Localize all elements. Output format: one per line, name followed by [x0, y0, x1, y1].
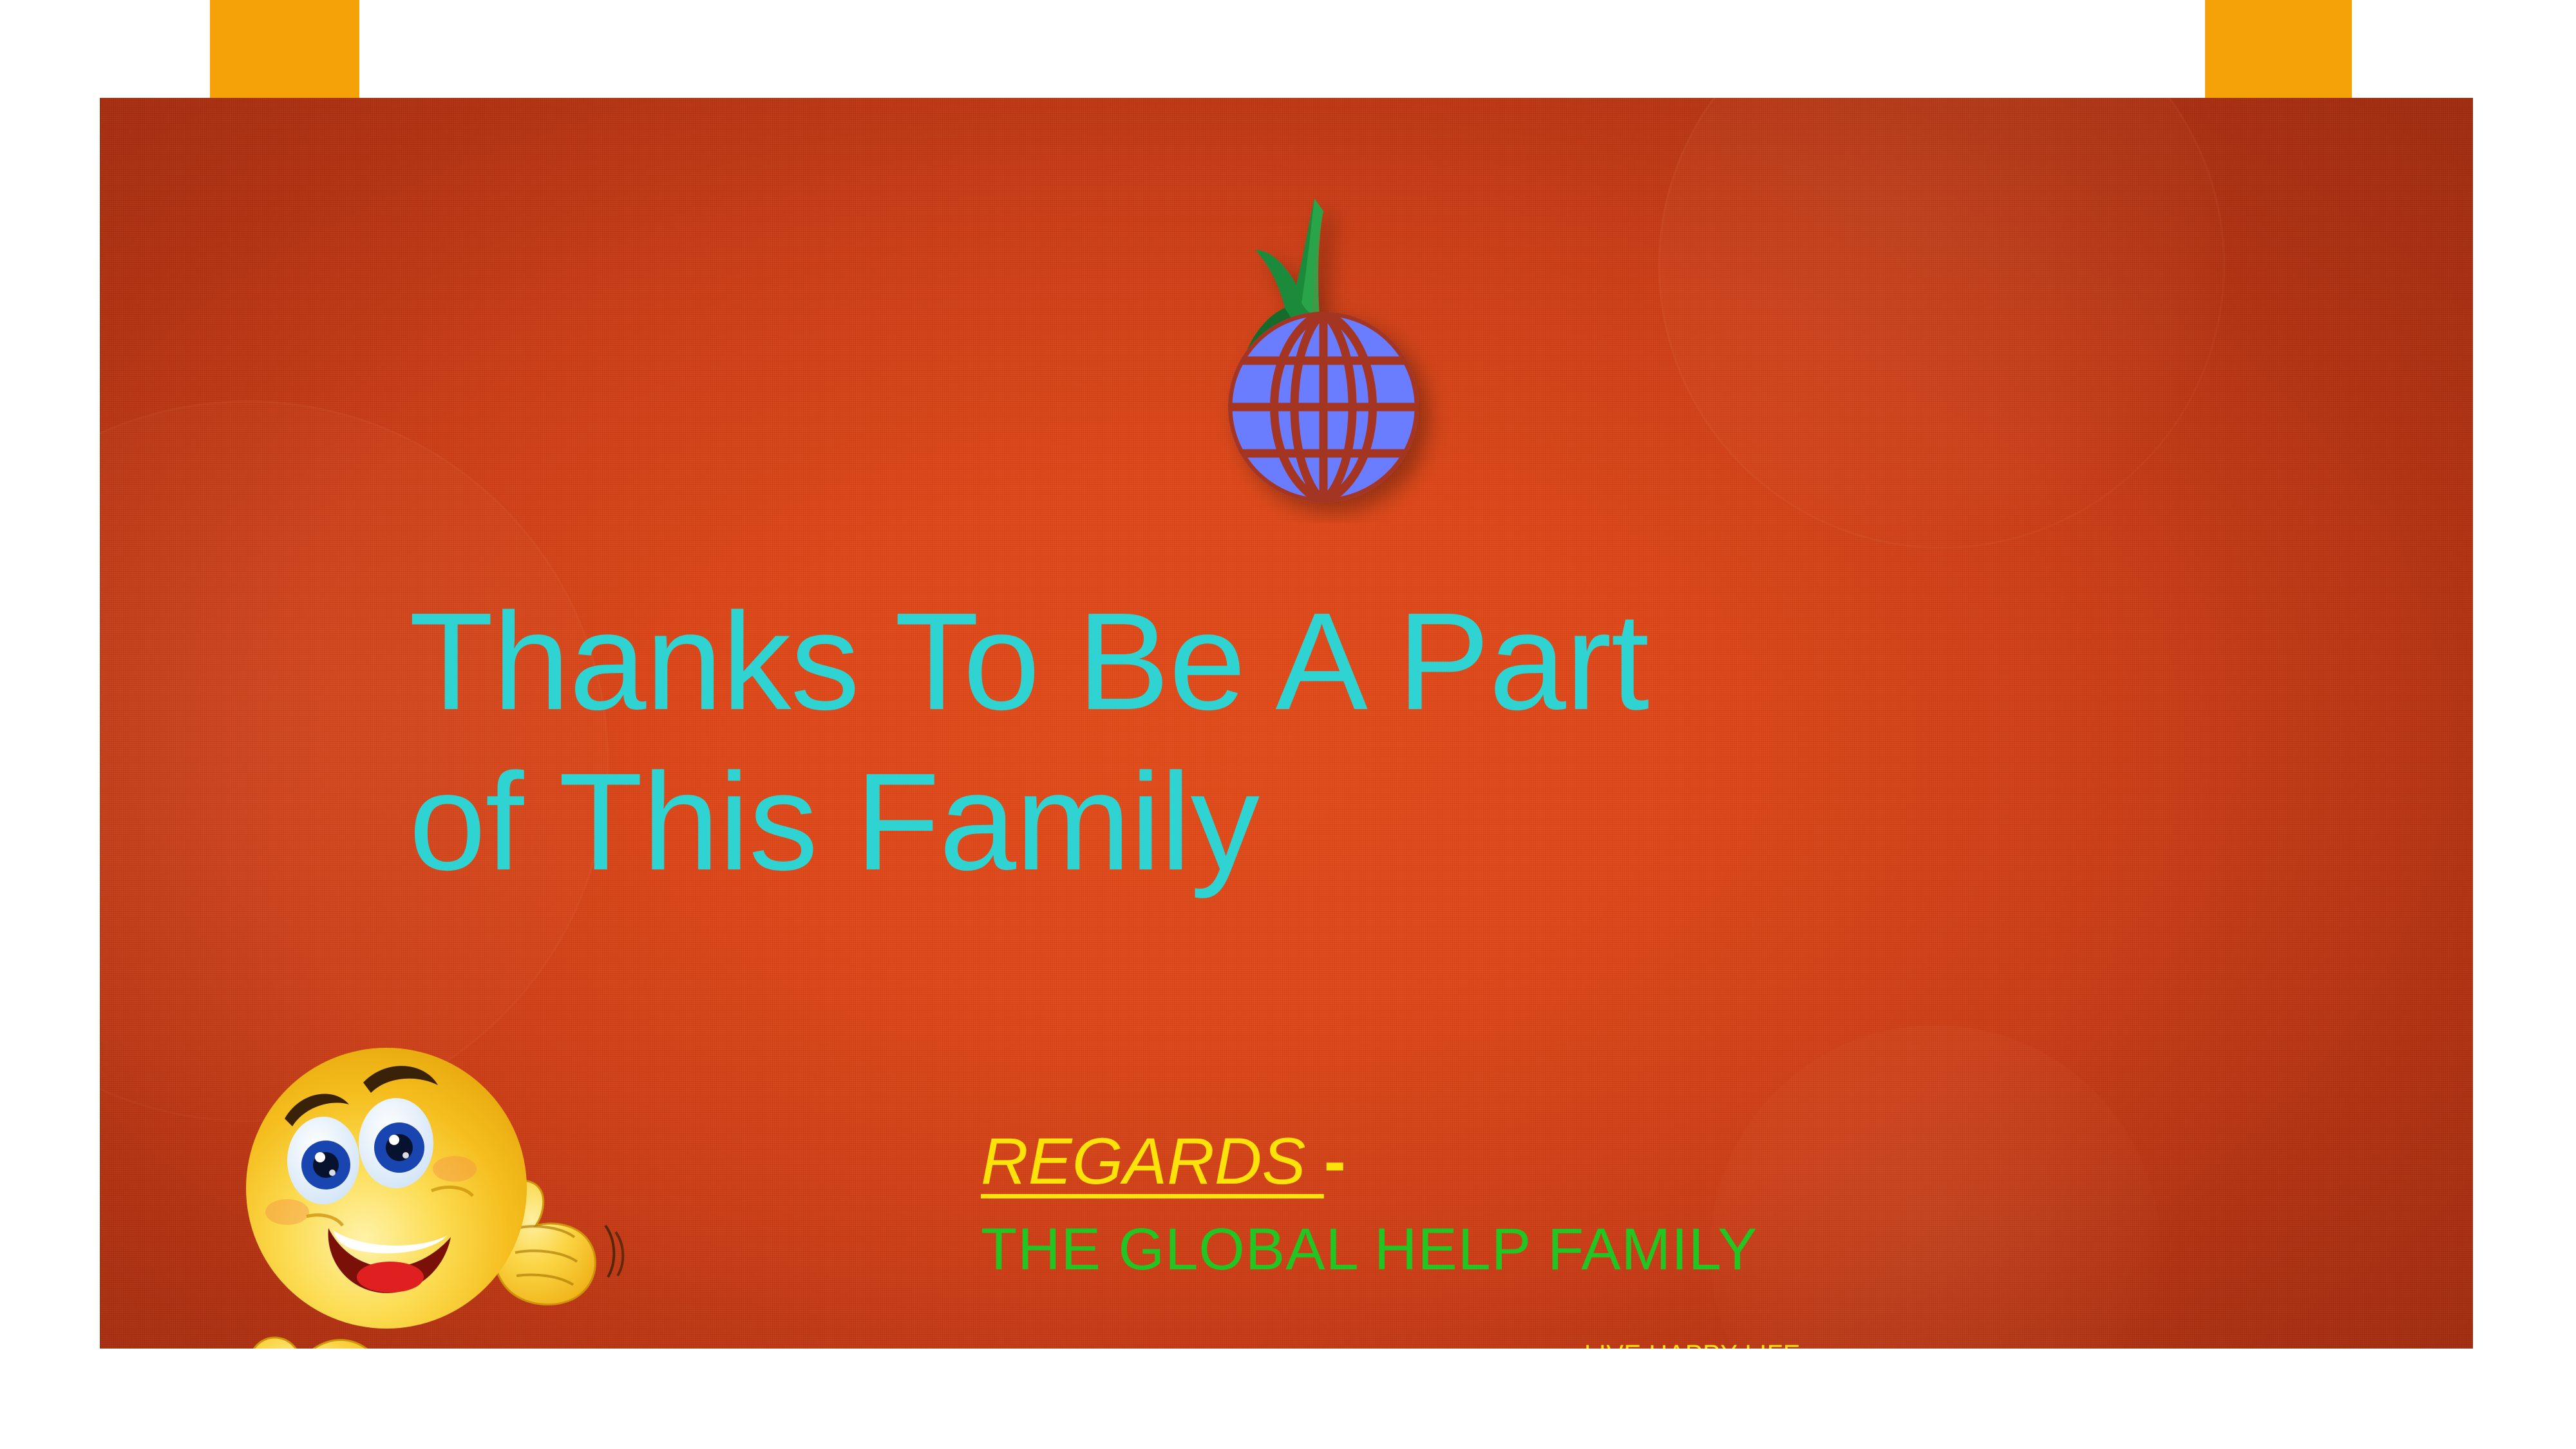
slide-title: Thanks To Be A Part of This Family — [409, 581, 2212, 902]
title-line-1: Thanks To Be A Part — [409, 581, 2212, 741]
globe-grid — [1219, 309, 1428, 505]
smiley-thumbs-up-icon — [225, 1016, 638, 1349]
regards-line: REGARDS - — [981, 1128, 1758, 1194]
thumb-up-left — [249, 1338, 383, 1349]
regards-label: REGARDS — [981, 1124, 1324, 1198]
right-cheek — [433, 1156, 477, 1182]
tongue — [357, 1262, 424, 1293]
slide-canvas: Thanks To Be A Part of This Family REGAR… — [100, 98, 2473, 1349]
presentation-slide: Thanks To Be A Part of This Family REGAR… — [0, 0, 2576, 1449]
organization-name: THE GLOBAL HELP FAMILY — [981, 1220, 1758, 1279]
left-cheek — [265, 1199, 309, 1225]
signature-block: REGARDS - THE GLOBAL HELP FAMILY — [981, 1128, 1758, 1279]
regards-dash: - — [1324, 1124, 1346, 1198]
title-line-2: of This Family — [409, 741, 2212, 902]
globe-logo-icon — [1188, 188, 1459, 523]
decorative-circle-bottom-right — [1710, 1025, 2161, 1349]
tagline-text: LIVE HAPPY LIFE — [1584, 1340, 1801, 1349]
decorative-circle-top-right — [1658, 98, 2225, 549]
